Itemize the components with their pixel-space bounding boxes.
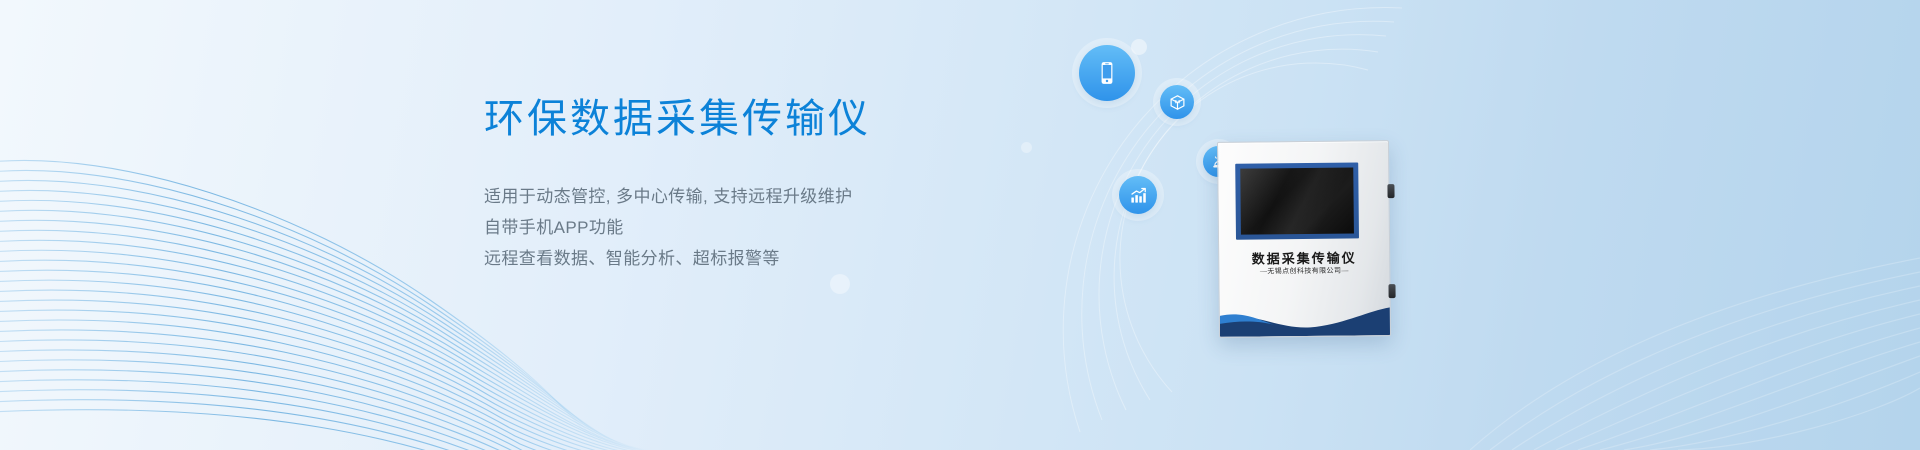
device-body: 数据采集传输仪 —无锡点创科技有限公司— xyxy=(1217,140,1391,338)
banner-description: 适用于动态管控, 多中心传输, 支持远程升级维护 自带手机APP功能 远程查看数… xyxy=(484,181,1044,274)
product-device-image: 数据采集传输仪 —无锡点创科技有限公司— xyxy=(1217,140,1391,338)
smartphone-icon xyxy=(1079,45,1135,101)
device-connector-top xyxy=(1387,184,1394,198)
description-line-1: 适用于动态管控, 多中心传输, 支持远程升级维护 xyxy=(484,181,1044,212)
device-screen-bezel xyxy=(1235,162,1359,239)
product-banner: 环保数据采集传输仪 适用于动态管控, 多中心传输, 支持远程升级维护 自带手机A… xyxy=(0,0,1920,450)
device-connector-bottom xyxy=(1388,284,1395,298)
device-bottom-wave xyxy=(1220,297,1391,337)
description-line-3: 远程查看数据、智能分析、超标报警等 xyxy=(484,243,1044,274)
ambient-dot xyxy=(830,274,850,294)
ambient-dot xyxy=(1131,39,1147,55)
cube-icon xyxy=(1160,85,1194,119)
device-screen xyxy=(1240,167,1354,234)
banner-text-block: 环保数据采集传输仪 适用于动态管控, 多中心传输, 支持远程升级维护 自带手机A… xyxy=(484,95,1044,274)
description-line-2: 自带手机APP功能 xyxy=(484,212,1044,243)
device-company-label: —无锡点创科技有限公司— xyxy=(1219,265,1389,277)
bar-chart-icon xyxy=(1119,176,1157,214)
page-title: 环保数据采集传输仪 xyxy=(484,95,1044,143)
